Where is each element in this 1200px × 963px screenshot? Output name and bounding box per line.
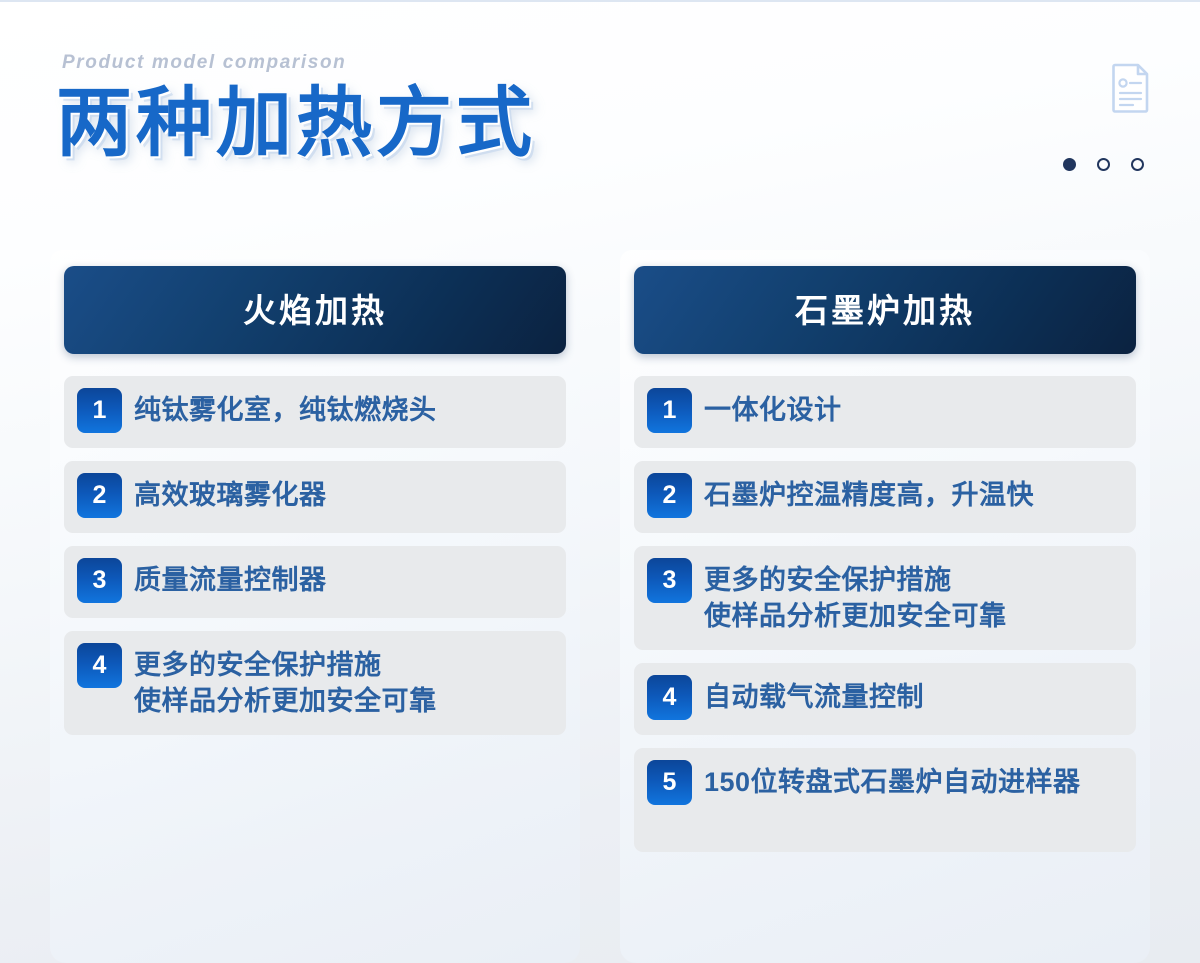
item-label: 更多的安全保护措施 使样品分析更加安全可靠 <box>134 643 437 719</box>
page-header: Product model comparison 两种加热方式 <box>0 0 1200 235</box>
panel-graphite-furnace-heating: 石墨炉加热 1 一体化设计 2 石墨炉控温精度高，升温快 3 更多的安全保护措施… <box>620 250 1150 963</box>
list-item[interactable]: 5 150位转盘式石墨炉自动进样器 <box>634 748 1136 852</box>
list-item[interactable]: 2 石墨炉控温精度高，升温快 <box>634 461 1136 533</box>
list-item[interactable]: 3 质量流量控制器 <box>64 546 566 618</box>
list-item[interactable]: 4 自动载气流量控制 <box>634 663 1136 735</box>
item-number-badge: 3 <box>77 558 122 603</box>
item-number-badge: 4 <box>647 675 692 720</box>
eyebrow-label: Product model comparison <box>62 52 346 74</box>
feature-list-graphite: 1 一体化设计 2 石墨炉控温精度高，升温快 3 更多的安全保护措施 使样品分析… <box>634 376 1136 852</box>
item-label: 纯钛雾化室，纯钛燃烧头 <box>134 388 437 429</box>
item-number-badge: 4 <box>77 643 122 688</box>
pagination-dot-3[interactable] <box>1131 158 1144 171</box>
panel-title-graphite: 石墨炉加热 <box>795 294 975 327</box>
item-number-badge: 3 <box>647 558 692 603</box>
item-label: 150位转盘式石墨炉自动进样器 <box>704 760 1081 801</box>
panel-title-flame: 火焰加热 <box>243 294 387 327</box>
item-number-badge: 2 <box>77 473 122 518</box>
item-label: 自动载气流量控制 <box>704 675 924 716</box>
pagination-dot-1[interactable] <box>1063 158 1076 171</box>
item-label: 更多的安全保护措施 使样品分析更加安全可靠 <box>704 558 1007 634</box>
list-item[interactable]: 3 更多的安全保护措施 使样品分析更加安全可靠 <box>634 546 1136 650</box>
item-label: 高效玻璃雾化器 <box>134 473 327 514</box>
list-item[interactable]: 1 纯钛雾化室，纯钛燃烧头 <box>64 376 566 448</box>
list-item[interactable]: 2 高效玻璃雾化器 <box>64 461 566 533</box>
document-icon <box>1112 63 1150 113</box>
panel-header-graphite: 石墨炉加热 <box>634 266 1136 354</box>
pagination-dot-2[interactable] <box>1097 158 1110 171</box>
feature-list-flame: 1 纯钛雾化室，纯钛燃烧头 2 高效玻璃雾化器 3 质量流量控制器 4 更多的安… <box>64 376 566 735</box>
list-item[interactable]: 4 更多的安全保护措施 使样品分析更加安全可靠 <box>64 631 566 735</box>
item-number-badge: 1 <box>77 388 122 433</box>
list-item[interactable]: 1 一体化设计 <box>634 376 1136 448</box>
item-number-badge: 2 <box>647 473 692 518</box>
item-number-badge: 1 <box>647 388 692 433</box>
comparison-columns: 火焰加热 1 纯钛雾化室，纯钛燃烧头 2 高效玻璃雾化器 3 质量流量控制器 4… <box>0 250 1200 963</box>
page-title: 两种加热方式 <box>56 86 536 162</box>
item-label: 一体化设计 <box>704 388 842 429</box>
panel-header-flame: 火焰加热 <box>64 266 566 354</box>
item-number-badge: 5 <box>647 760 692 805</box>
item-label: 质量流量控制器 <box>134 558 327 599</box>
item-label: 石墨炉控温精度高，升温快 <box>704 473 1034 514</box>
pagination-dots[interactable] <box>1063 158 1144 171</box>
panel-flame-heating: 火焰加热 1 纯钛雾化室，纯钛燃烧头 2 高效玻璃雾化器 3 质量流量控制器 4… <box>50 250 580 963</box>
